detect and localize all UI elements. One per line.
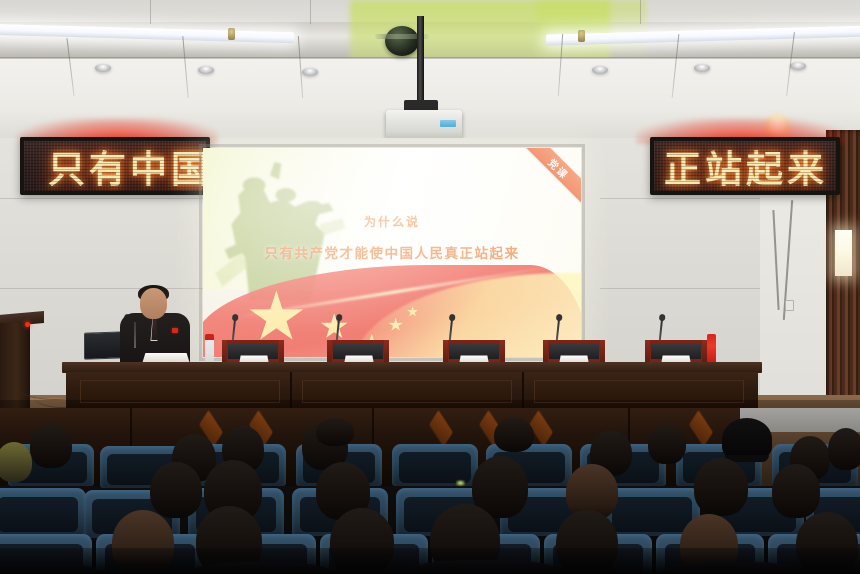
audience-head-12 bbox=[150, 462, 202, 518]
ceiling-green-reflection-2 bbox=[536, 0, 646, 60]
audience-head-2 bbox=[0, 442, 32, 482]
audience-head-17 bbox=[694, 458, 748, 516]
seat-r1-5 bbox=[392, 444, 478, 486]
led-sign-right: 正站起来 bbox=[650, 137, 840, 195]
downlight-3 bbox=[302, 68, 318, 76]
ceiling-seam-1 bbox=[150, 0, 151, 24]
chair-arm-left bbox=[327, 340, 332, 364]
ceiling-seam-long bbox=[0, 57, 860, 58]
audience-head-6 bbox=[316, 418, 354, 446]
slide-subheading: 只有共产党才能使中国人民真正站起来 bbox=[203, 242, 581, 262]
ceiling-seam-2 bbox=[310, 0, 311, 24]
chair-arm-right bbox=[500, 340, 505, 364]
table-panel-1 bbox=[80, 380, 280, 403]
wall-line-1 bbox=[0, 198, 205, 199]
chair-arm-left bbox=[443, 340, 448, 364]
led-sign-right-text: 正站起来 bbox=[664, 139, 828, 193]
phone-screen-glow-1 bbox=[456, 480, 465, 486]
downlight-4 bbox=[592, 66, 608, 74]
downlight-2 bbox=[198, 66, 214, 74]
slide-heading: 为什么说 bbox=[203, 213, 581, 230]
audience-head-18 bbox=[772, 464, 820, 518]
downlight-6 bbox=[790, 62, 806, 70]
chair-arm-right bbox=[384, 340, 389, 364]
speaker-desk-microphone bbox=[134, 322, 136, 348]
projector bbox=[386, 110, 462, 140]
projection-screen: 为什么说 只有共产党才能使中国人民真正站起来 党课 bbox=[203, 148, 581, 357]
water-bottle-cap bbox=[205, 334, 214, 340]
audience-head-7 bbox=[494, 418, 534, 452]
downlight-1 bbox=[95, 64, 111, 72]
chair-arm-left bbox=[222, 340, 227, 364]
presidium-table-front bbox=[66, 372, 758, 408]
ceiling-hook-right bbox=[578, 30, 585, 42]
podium bbox=[0, 323, 30, 415]
audience-head-9 bbox=[648, 424, 686, 464]
water-bottle-left bbox=[205, 338, 214, 364]
water-bottle-right bbox=[707, 334, 716, 364]
ceiling-hook-left bbox=[228, 28, 235, 40]
chair-arm-left bbox=[543, 340, 548, 364]
ceiling-seam-3 bbox=[640, 0, 641, 24]
wall-outlet[interactable] bbox=[785, 300, 794, 311]
led-sign-left-text: 只有中国 bbox=[48, 139, 210, 193]
audience-head-11 bbox=[828, 428, 860, 470]
lecture-hall-photo: 只有中国 正站起来 bbox=[0, 0, 860, 574]
chair-arm-left bbox=[645, 340, 650, 364]
party-badge-pin bbox=[172, 328, 178, 333]
table-panel-3 bbox=[534, 380, 744, 403]
audience-head-cap bbox=[722, 418, 772, 460]
chair-arm-right bbox=[279, 340, 284, 364]
speaker-head bbox=[140, 288, 167, 319]
column-light-panel bbox=[835, 230, 852, 276]
foreground-shadow bbox=[0, 548, 860, 574]
dome-camera-icon bbox=[385, 26, 419, 56]
downlight-5 bbox=[694, 64, 710, 72]
audience-head-1 bbox=[30, 424, 72, 468]
wall-line-2 bbox=[0, 288, 205, 289]
seat-r2-1 bbox=[0, 488, 86, 536]
table-divider-2 bbox=[522, 372, 524, 408]
led-sign-left: 只有中国 bbox=[20, 137, 210, 195]
audience-area bbox=[0, 418, 860, 574]
podium-indicator-light bbox=[25, 322, 30, 327]
chair-arm-right bbox=[600, 340, 605, 364]
table-panel-2 bbox=[302, 380, 512, 403]
table-divider-1 bbox=[290, 372, 292, 408]
